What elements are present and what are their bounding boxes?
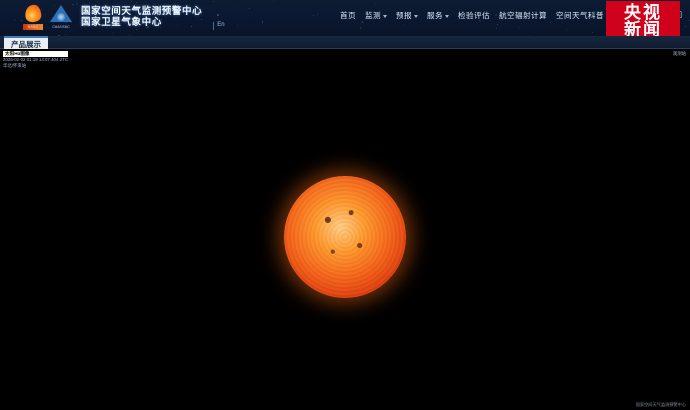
nav-item-2[interactable]: 预报 [396,10,418,21]
solar-disc [284,176,406,298]
site-banner: NSSC CMA/NSMC 国家空间天气监测预警中心 国家卫星气象中心 En 首… [0,0,690,36]
watermark-line2: 新闻 [624,21,662,36]
nav-item-label: 航空辐射计算 [499,10,547,21]
chevron-down-icon [383,15,387,18]
chevron-down-icon [414,15,418,18]
nav-item-1[interactable]: 监测 [365,10,387,21]
solar-footer: 国家空间天气监测预警中心 [636,402,686,408]
nav-item-0[interactable]: 首页 [340,10,356,21]
watermark-line1: 央视 [624,4,662,21]
language-toggle[interactable]: En [213,22,224,30]
org-title-line2: 国家卫星气象中心 [81,17,202,28]
nav-item-6[interactable]: 空间天气科普 [556,10,604,21]
nav-item-label: 服务 [427,10,443,21]
logo-group: NSSC CMA/NSMC 国家空间天气监测预警中心 国家卫星气象中心 En [22,4,225,30]
org-title-line1: 国家空间天气监测预警中心 [81,6,202,17]
cctv-news-watermark: 央视 新闻 [606,1,680,36]
flame-logo-icon: NSSC [22,4,44,30]
flame-logo-caption: NSSC [23,24,43,30]
nav-item-label: 空间天气科普 [556,10,604,21]
solar-halpha-image[interactable] [0,49,690,410]
nav-item-4[interactable]: 检验评估 [458,10,490,21]
nav-item-5[interactable]: 航空辐射计算 [499,10,547,21]
nav-item-label: 首页 [340,10,356,21]
solar-halpha-panel: 太阳Hα图像 2026-02-02 01:18 13:07:404.2TC 华北… [3,256,206,403]
nav-item-label: 预报 [396,10,412,21]
main-navigation[interactable]: 首页监测预报服务检验评估航空辐射计算空间天气科普 [340,10,604,21]
triangle-logo-caption: CMA/NSMC [49,25,73,30]
solar-overlay-sub: 华北/怀来站 [3,63,68,69]
org-title: 国家空间天气监测预警中心 国家卫星气象中心 [81,6,202,28]
section-bar: 产品展示 [0,36,690,49]
nav-item-label: 监测 [365,10,381,21]
chevron-down-icon [445,15,449,18]
nav-item-3[interactable]: 服务 [427,10,449,21]
nav-item-label: 检验评估 [458,10,490,21]
solar-overlay-right: 观测站 [673,51,686,57]
triangle-logo-icon: CMA/NSMC [49,4,73,30]
solar-overlay-text: 太阳Hα图像 2026-02-02 01:18 13:07:404.2TC 华北… [3,51,68,69]
tab-product-display[interactable]: 产品展示 [4,36,48,49]
